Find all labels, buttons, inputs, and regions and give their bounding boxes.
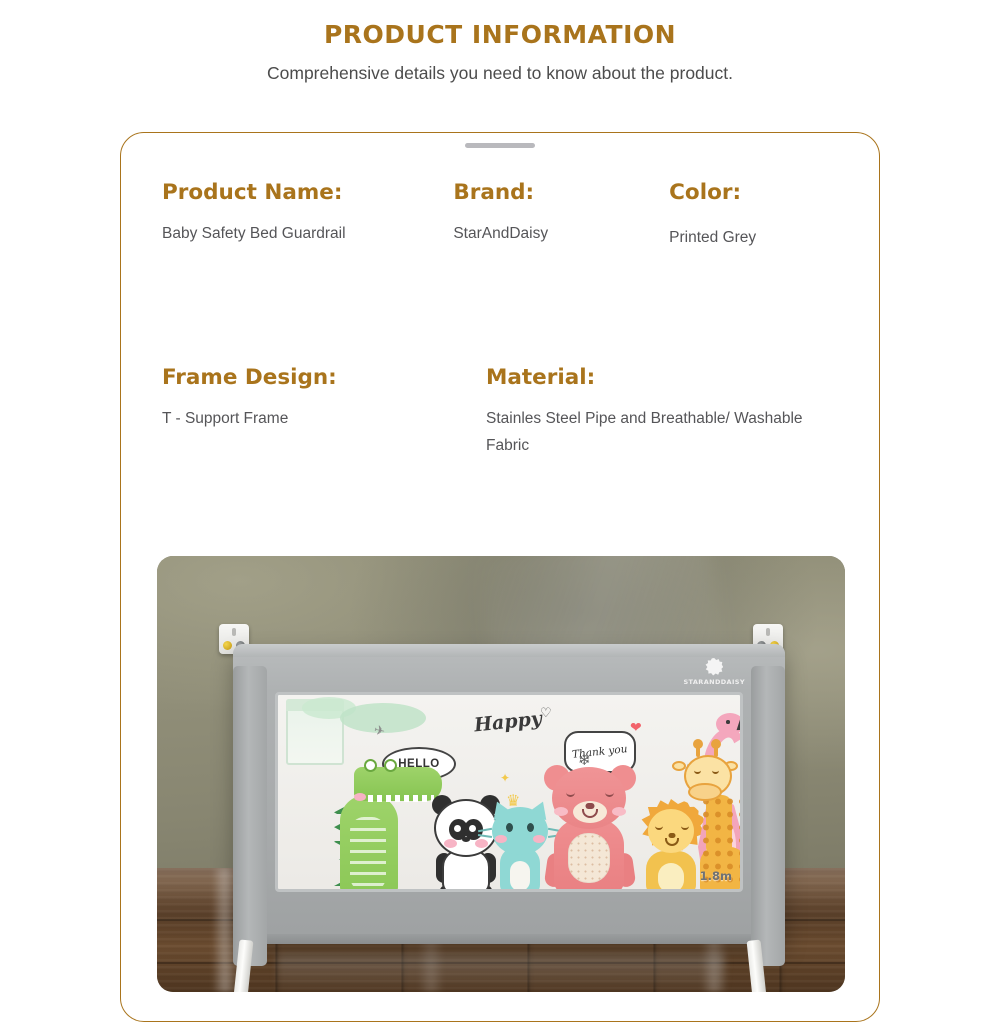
spec-row: Frame Design: T - Support Frame Material…: [162, 366, 849, 459]
spec-label: Color:: [669, 181, 849, 205]
bed-guardrail: StarAndDaisy ✈ Happy ♡ ❤ ☆ ✦ ✦ H: [201, 624, 801, 964]
brand-logo-text: StarAndDaisy: [683, 678, 745, 686]
crocodile-eye: [384, 759, 397, 772]
page-subtitle: Comprehensive details you need to know a…: [0, 63, 1000, 84]
crocodile-eye: [364, 759, 377, 772]
paper-plane-icon: ✈: [372, 722, 386, 740]
bracket-slot: [232, 628, 236, 636]
giraffe-snout: [688, 783, 722, 801]
spec-value: StarAndDaisy: [453, 221, 669, 248]
brand-logo: StarAndDaisy: [683, 658, 745, 686]
spec-product-name: Product Name: Baby Safety Bed Guardrail: [162, 181, 453, 251]
page-header: PRODUCT INFORMATION Comprehensive detail…: [0, 0, 1000, 84]
daisy-flower-icon: [705, 658, 723, 676]
flamingo-eye: [726, 720, 730, 724]
spec-frame-design: Frame Design: T - Support Frame: [162, 366, 486, 459]
row-spacer: [162, 251, 849, 366]
spec-label: Frame Design:: [162, 366, 486, 390]
guardrail-post-left: [233, 666, 267, 966]
cat-cheek: [495, 835, 507, 843]
spec-label: Product Name:: [162, 181, 453, 205]
spec-value: T - Support Frame: [162, 406, 486, 433]
bracket-adjust-knob: [223, 641, 232, 650]
crocodile-belly: [350, 817, 386, 891]
card-drag-handle[interactable]: [465, 143, 535, 148]
guardrail-floor-reflection: [277, 954, 725, 992]
bear-tummy-texture: [568, 833, 610, 883]
spec-value: Stainles Steel Pipe and Breathable/ Wash…: [486, 406, 806, 459]
panda-cheek: [444, 839, 457, 848]
bear-cheek: [612, 807, 626, 816]
heart-icon: ❤: [630, 719, 642, 736]
spec-label: Brand:: [453, 181, 669, 205]
bear-cheek: [554, 807, 568, 816]
spec-value: Baby Safety Bed Guardrail: [162, 221, 453, 248]
bear-graphic: ❄: [540, 757, 640, 892]
product-information-card: Product Name: Baby Safety Bed Guardrail …: [120, 132, 880, 1022]
spec-label: Material:: [486, 366, 806, 390]
guardrail-top-edge: [233, 644, 785, 657]
product-photo[interactable]: StarAndDaisy ✈ Happy ♡ ❤ ☆ ✦ ✦ H: [157, 556, 845, 992]
guardrail-post-right: [751, 666, 785, 966]
spec-row: Product Name: Baby Safety Bed Guardrail …: [162, 181, 849, 251]
spec-brand: Brand: StarAndDaisy: [453, 181, 669, 251]
guardrail-bottom-edge: [233, 934, 785, 944]
print-text-happy: Happy: [473, 708, 543, 737]
printed-fabric-panel: ✈ Happy ♡ ❤ ☆ ✦ ✦ HELLO Thank you: [275, 692, 743, 892]
fabric-size-label: 1.8m: [700, 869, 732, 883]
cat-eye: [527, 823, 534, 832]
bracket-slot: [766, 628, 770, 636]
spec-color: Color: Printed Grey: [669, 181, 849, 251]
guardrail-frame: StarAndDaisy ✈ Happy ♡ ❤ ☆ ✦ ✦ H: [233, 644, 785, 944]
sparkle-icon: ✦: [500, 771, 510, 785]
heart-icon: ♡: [540, 705, 552, 721]
panda-nose: [462, 837, 470, 842]
crocodile-cheek: [354, 793, 366, 801]
cat-belly: [510, 861, 530, 891]
cat-eye: [506, 823, 513, 832]
page-title: PRODUCT INFORMATION: [0, 20, 1000, 49]
spec-value: Printed Grey: [669, 225, 849, 252]
crocodile-teeth: [368, 795, 434, 802]
spec-material: Material: Stainles Steel Pipe and Breath…: [486, 366, 806, 459]
